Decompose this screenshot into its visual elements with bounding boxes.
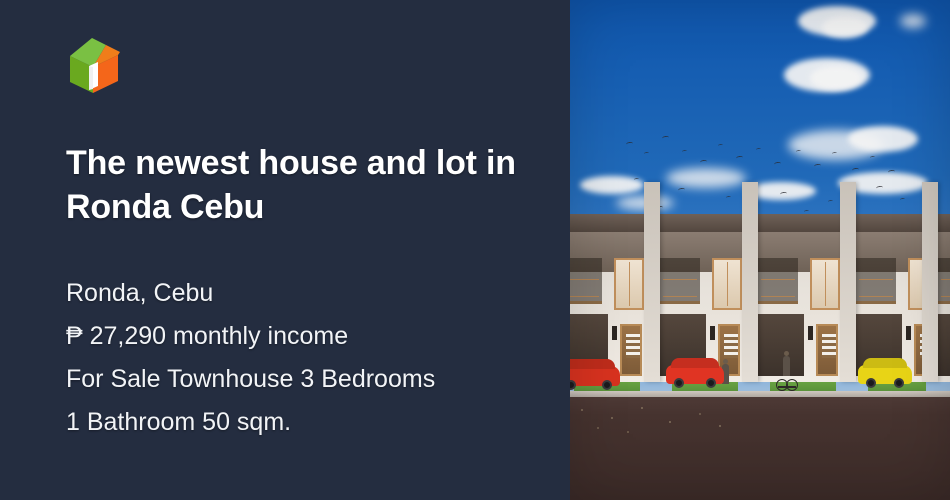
gravel-texture bbox=[570, 404, 750, 440]
car-wheel bbox=[894, 378, 904, 388]
cloud bbox=[822, 16, 868, 38]
house-logo-icon[interactable] bbox=[66, 36, 122, 94]
facade-pillar bbox=[840, 182, 856, 382]
facade-pillar bbox=[644, 182, 660, 382]
cloud bbox=[810, 66, 862, 90]
listing-spec-type: For Sale Townhouse 3 Bedrooms bbox=[66, 358, 556, 401]
cloud bbox=[666, 168, 746, 188]
listing-spec-size: 1 Bathroom 50 sqm. bbox=[66, 401, 556, 444]
car-wheel bbox=[866, 378, 876, 388]
cloud bbox=[848, 126, 918, 152]
townhouse-unit bbox=[752, 214, 848, 382]
red-car-mid bbox=[666, 365, 724, 384]
townhouse-unit bbox=[570, 214, 652, 382]
listing-details: Ronda, Cebu ₱ 27,290 monthly income For … bbox=[66, 272, 556, 444]
car-wheel bbox=[706, 378, 716, 388]
cloud bbox=[900, 14, 926, 28]
asphalt-road bbox=[570, 397, 950, 500]
page-title: The newest house and lot in Ronda Cebu bbox=[66, 142, 536, 229]
listing-location: Ronda, Cebu bbox=[66, 272, 556, 315]
facade-pillar bbox=[742, 182, 758, 382]
property-listing-card: The newest house and lot in Ronda Cebu R… bbox=[0, 0, 950, 500]
red-car-left bbox=[570, 366, 620, 386]
townhouse-exterior-render bbox=[570, 0, 950, 500]
car-wheel bbox=[674, 378, 684, 388]
listing-price: ₱ 27,290 monthly income bbox=[66, 315, 556, 358]
yellow-car bbox=[858, 365, 912, 384]
facade-pillar bbox=[922, 182, 938, 382]
listing-info-panel: The newest house and lot in Ronda Cebu R… bbox=[0, 0, 570, 500]
townhouse-unit bbox=[654, 214, 750, 382]
townhouse-row bbox=[570, 215, 950, 500]
car-wheel bbox=[602, 380, 612, 390]
cyclist-rider bbox=[783, 356, 790, 376]
